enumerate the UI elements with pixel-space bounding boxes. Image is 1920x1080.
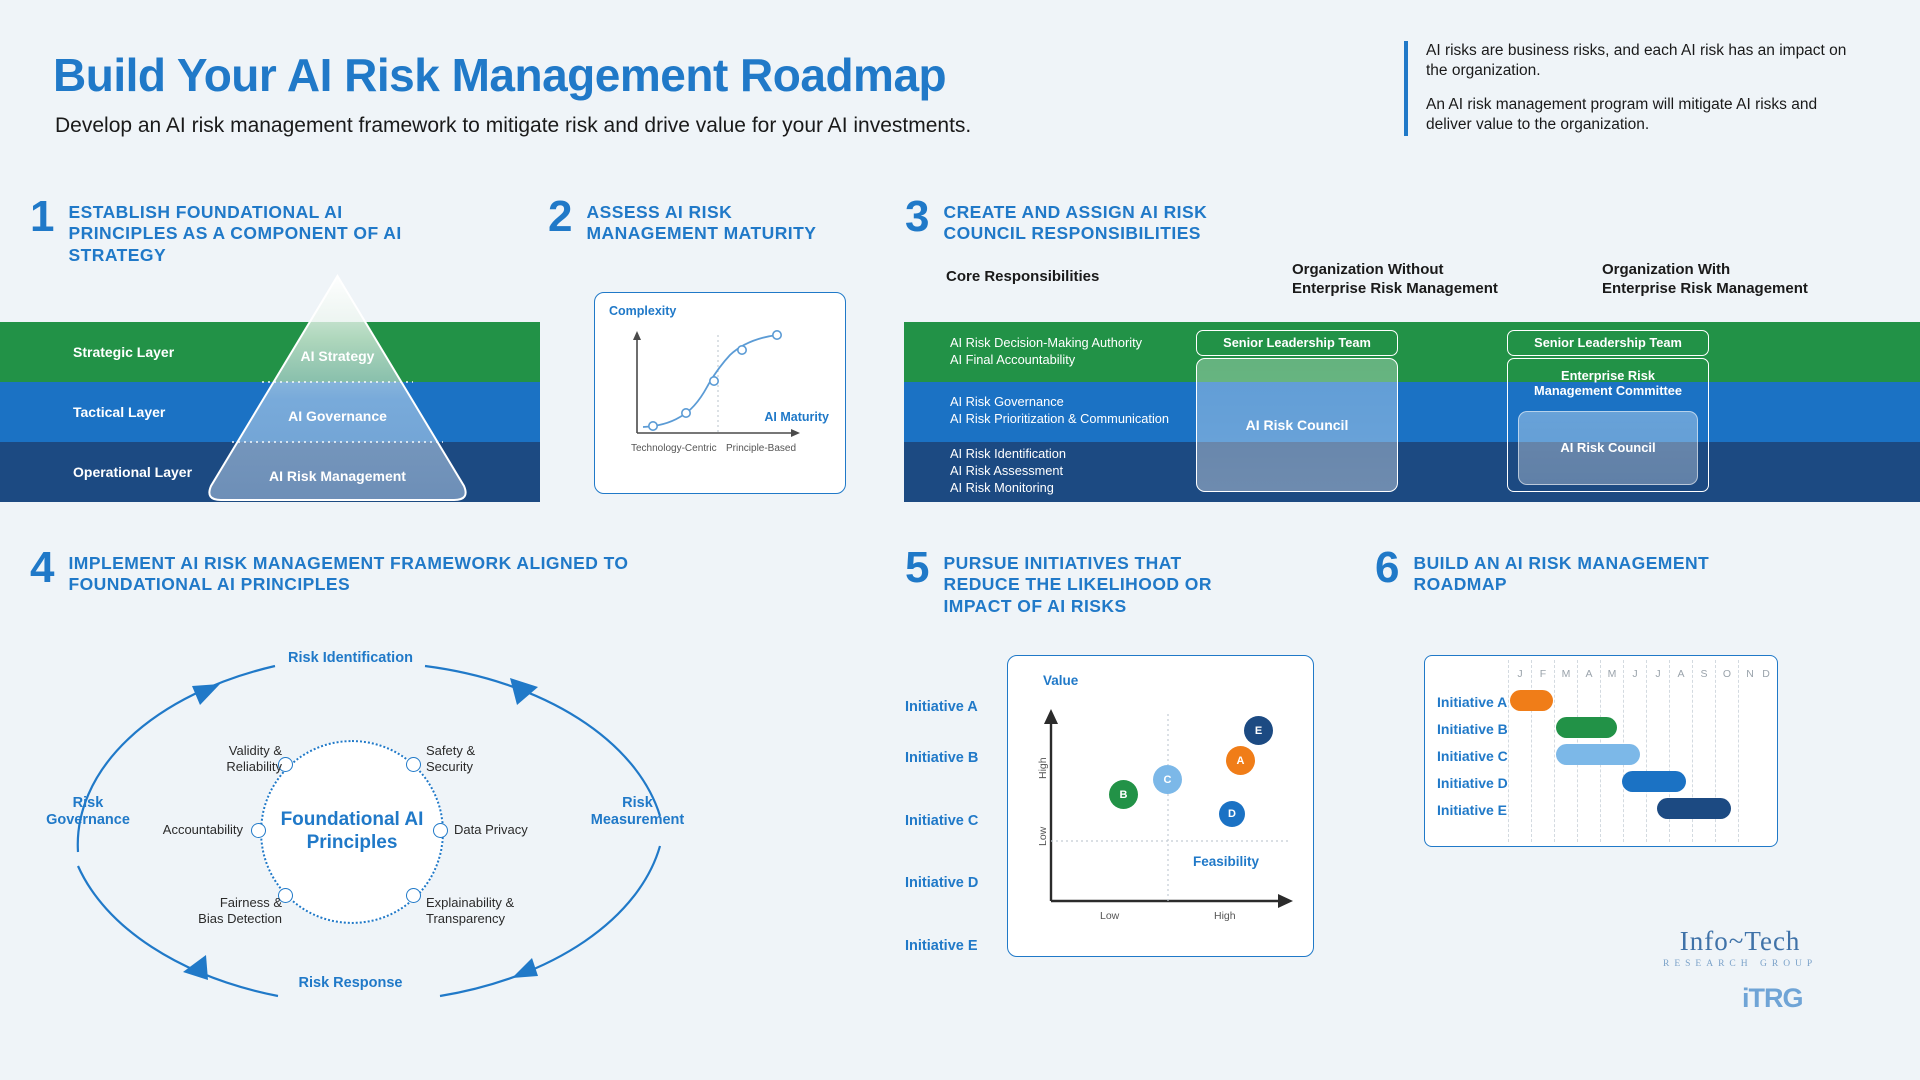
step-title-2: Assess AI Risk Management Maturity: [586, 196, 848, 245]
gantt-month-jan: J: [1513, 668, 1527, 680]
cycle-stage-left-l2: Governance: [46, 812, 130, 828]
vf-point-d: D: [1219, 801, 1245, 827]
initiative-list-item-d: Initiative D: [905, 875, 978, 891]
risk-management-cycle: Foundational AI Principles Risk Identifi…: [20, 630, 720, 1030]
header-callout: AI risks are business risks, and each AI…: [1404, 41, 1856, 136]
principle-fairness-l2: Bias Detection: [198, 911, 282, 926]
responsibility-text-row3: AI Risk Identification AI Risk Assessmen…: [950, 446, 1066, 497]
responsibility-text-row2: AI Risk Governance AI Risk Prioritizatio…: [950, 394, 1169, 428]
vf-point-e: E: [1244, 716, 1273, 745]
gantt-row-label-d: Initiative D: [1437, 775, 1508, 791]
vf-ytick-low: Low: [1037, 827, 1049, 846]
principle-explain-l2: Transparency: [426, 911, 505, 926]
step-number-5: 5: [905, 547, 929, 589]
gantt-month-jul: J: [1651, 668, 1665, 680]
pyramid-label-strategy: AI Strategy: [200, 348, 475, 364]
step-heading-2: 2 Assess AI Risk Management Maturity: [548, 196, 848, 245]
info-tech-logo-tagline: RESEARCH GROUP: [1663, 959, 1817, 969]
principle-fairness-l1: Fairness &: [220, 895, 282, 910]
with-erm-ai-risk-council-box: AI Risk Council: [1518, 411, 1698, 485]
gantt-month-jun: J: [1628, 668, 1642, 680]
cycle-stage-risk-response: Risk Response: [268, 975, 433, 992]
page-title: Build Your AI Risk Management Roadmap: [53, 48, 946, 102]
column-header-with-erm-line1: Organization With: [1602, 261, 1808, 280]
gantt-month-aug: A: [1674, 668, 1688, 680]
gantt-bar-initiative-e: [1657, 798, 1731, 819]
layer-label-strategic: Strategic Layer: [73, 344, 174, 360]
step-number-6: 6: [1375, 547, 1399, 589]
pyramid-label-risk-management: AI Risk Management: [200, 468, 475, 484]
roadmap-gantt-card: J F M A M J J A S O N D Initiative A Ini…: [1424, 655, 1778, 847]
column-header-with-erm-line2: Enterprise Risk Management: [1602, 280, 1808, 299]
principle-label-explainability-transparency: Explainability & Transparency: [426, 895, 551, 927]
column-header-without-erm-line2: Enterprise Risk Management: [1292, 280, 1498, 299]
principle-label-data-privacy: Data Privacy: [454, 822, 564, 838]
pyramid-label-governance: AI Governance: [200, 408, 475, 424]
info-tech-logo: Info~Tech RESEARCH GROUP: [1663, 926, 1817, 969]
vf-plot-axes: [1008, 656, 1313, 956]
maturity-chart-card: Complexity AI Maturity Technology-Centri…: [594, 292, 846, 494]
vf-xtick-low: Low: [1100, 910, 1119, 922]
step-title-3: Create and Assign AI Risk Council Respon…: [943, 196, 1285, 245]
step-heading-6: 6 Build an AI Risk Management Roadmap: [1375, 547, 1735, 596]
maturity-xtick-principle-based: Principle-Based: [726, 443, 796, 454]
initiative-list-item-a: Initiative A: [905, 699, 978, 715]
gantt-month-dec: D: [1759, 668, 1773, 680]
initiative-list-item-e: Initiative E: [905, 938, 978, 954]
gantt-bar-initiative-c: [1556, 744, 1640, 765]
principle-node-safety: [406, 757, 421, 772]
step-title-4: Implement AI Risk Management Framework A…: [68, 547, 670, 596]
gantt-row-label-b: Initiative B: [1437, 721, 1508, 737]
principle-safety-l1: Safety &: [426, 743, 475, 758]
principle-validity-l2: Reliability: [226, 759, 282, 774]
principle-node-explainability: [406, 888, 421, 903]
responsibility-bands: AI Risk Decision-Making Authority AI Fin…: [904, 322, 1920, 502]
step-heading-4: 4 Implement AI Risk Management Framework…: [30, 547, 670, 596]
step-heading-1: 1 Establish Foundational AI Principles a…: [30, 196, 450, 266]
page-subtitle: Develop an AI risk management framework …: [55, 114, 971, 138]
without-erm-ai-risk-council-box: AI Risk Council: [1196, 358, 1398, 492]
gantt-bar-initiative-a: [1510, 690, 1553, 711]
strategy-pyramid: AI Strategy AI Governance AI Risk Manage…: [200, 270, 475, 506]
column-header-core-responsibilities: Core Responsibilities: [946, 268, 1099, 287]
gantt-row-label-e: Initiative E: [1437, 802, 1507, 818]
cycle-core-line1: Foundational AI: [281, 809, 424, 830]
info-tech-logo-wordmark: Info~Tech: [1663, 926, 1817, 957]
step-number-1: 1: [30, 196, 54, 238]
cycle-stage-risk-governance: Risk Governance: [28, 795, 148, 830]
column-header-with-erm: Organization With Enterprise Risk Manage…: [1602, 261, 1808, 299]
cycle-stage-left-l1: Risk: [73, 795, 104, 811]
principle-label-validity-reliability: Validity & Reliability: [192, 743, 282, 775]
gantt-month-oct: O: [1720, 668, 1734, 680]
cycle-stage-right-l1: Risk: [622, 795, 653, 811]
step-number-3: 3: [905, 196, 929, 238]
gantt-row-label-c: Initiative C: [1437, 748, 1508, 764]
maturity-xtick-technology-centric: Technology-Centric: [631, 443, 717, 454]
with-erm-senior-leadership-box: Senior Leadership Team: [1507, 330, 1709, 356]
gantt-month-nov: N: [1743, 668, 1757, 680]
step-number-2: 2: [548, 196, 572, 238]
callout-line-2: An AI risk management program will mitig…: [1426, 95, 1856, 135]
vf-point-c: C: [1153, 765, 1182, 794]
vf-xtick-high: High: [1214, 910, 1236, 922]
layer-label-operational: Operational Layer: [73, 464, 192, 480]
with-erm-committee-line1: Enterprise Risk: [1508, 368, 1708, 383]
cycle-stage-risk-measurement: Risk Measurement: [565, 795, 710, 830]
principle-node-accountability: [251, 823, 266, 838]
initiative-list-item-b: Initiative B: [905, 750, 978, 766]
with-erm-committee-box: Enterprise Risk Management Committee AI …: [1507, 358, 1709, 492]
vf-ytick-high: High: [1037, 757, 1049, 779]
layer-label-tactical: Tactical Layer: [73, 404, 165, 420]
step-number-4: 4: [30, 547, 54, 589]
gantt-bar-initiative-b: [1556, 717, 1617, 738]
gantt-month-may: M: [1605, 668, 1619, 680]
without-erm-senior-leadership-box: Senior Leadership Team: [1196, 330, 1398, 356]
step-heading-3: 3 Create and Assign AI Risk Council Resp…: [905, 196, 1285, 245]
column-header-without-erm-line1: Organization Without: [1292, 261, 1498, 280]
principle-validity-l1: Validity &: [229, 743, 282, 758]
gantt-month-sep: S: [1697, 668, 1711, 680]
maturity-curve-plot: [595, 293, 845, 493]
value-feasibility-chart-card: Value Feasibility High Low Low High A B …: [1007, 655, 1314, 957]
initiative-list-item-c: Initiative C: [905, 813, 978, 829]
column-header-without-erm: Organization Without Enterprise Risk Man…: [1292, 261, 1498, 299]
cycle-stage-risk-identification: Risk Identification: [263, 650, 438, 667]
principle-safety-l2: Security: [426, 759, 473, 774]
gantt-month-feb: F: [1536, 668, 1550, 680]
step-title-5: Pursue Initiatives That Reduce the Likel…: [943, 547, 1245, 617]
cycle-core-line2: Principles: [307, 832, 398, 853]
gantt-bar-initiative-d: [1622, 771, 1686, 792]
gantt-month-mar: M: [1559, 668, 1573, 680]
step-title-1: Establish Foundational AI Principles as …: [68, 196, 450, 266]
step-heading-5: 5 Pursue Initiatives That Reduce the Lik…: [905, 547, 1245, 617]
itrg-logo: iTRG: [1742, 983, 1803, 1014]
gantt-row-label-a: Initiative A: [1437, 694, 1507, 710]
step-title-6: Build an AI Risk Management Roadmap: [1413, 547, 1735, 596]
cycle-stage-right-l2: Measurement: [591, 812, 684, 828]
principle-explain-l1: Explainability &: [426, 895, 514, 910]
responsibility-text-row1: AI Risk Decision-Making Authority AI Fin…: [950, 335, 1142, 369]
cycle-core-label: Foundational AI Principles: [281, 809, 424, 855]
with-erm-committee-line2: Management Committee: [1508, 383, 1708, 398]
vf-point-b: B: [1109, 780, 1138, 809]
principle-label-fairness-bias: Fairness & Bias Detection: [172, 895, 282, 927]
principle-label-accountability: Accountability: [133, 822, 243, 838]
vf-point-a: A: [1226, 746, 1255, 775]
principle-label-safety-security: Safety & Security: [426, 743, 536, 775]
gantt-month-apr: A: [1582, 668, 1596, 680]
principle-node-data-privacy: [433, 823, 448, 838]
callout-line-1: AI risks are business risks, and each AI…: [1426, 41, 1856, 81]
